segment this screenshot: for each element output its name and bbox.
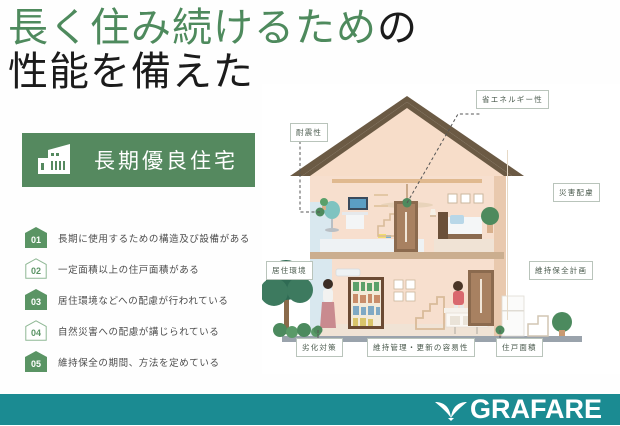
callout-living-environment: 居住環境 bbox=[266, 261, 313, 280]
list-item: 01 長期に使用するための構造及び設備がある bbox=[25, 224, 290, 251]
callout-dwelling-area: 住戸面積 bbox=[496, 338, 543, 357]
footer-bar: GRAFARE bbox=[0, 394, 620, 425]
list-item: 03 居住環境などへの配慮が行われている bbox=[25, 286, 290, 313]
list-item-text: 長期に使用するための構造及び設備がある bbox=[58, 231, 250, 245]
list-item-badge-01: 01 bbox=[25, 227, 47, 248]
list-item-text: 自然災害への配慮が講じられている bbox=[58, 324, 219, 338]
brand-logo: GRAFARE bbox=[434, 396, 602, 423]
list-item-text: 居住環境などへの配慮が行われている bbox=[58, 293, 228, 307]
certification-banner: 長期優良住宅 bbox=[22, 133, 255, 187]
callout-disaster-consideration: 災害配慮 bbox=[553, 183, 600, 202]
list-item-badge-03: 03 bbox=[25, 289, 47, 310]
right-guide-line bbox=[507, 150, 508, 320]
list-item-text: 一定面積以上の住戸面積がある bbox=[58, 262, 199, 276]
list-item-badge-02: 02 bbox=[25, 258, 47, 279]
brand-name: GRAFARE bbox=[470, 396, 602, 423]
house-building-icon bbox=[34, 140, 84, 180]
headline-line-1-black: の bbox=[377, 5, 418, 50]
callout-deterioration-measures: 劣化対策 bbox=[296, 338, 343, 357]
leaf-wing-logo-icon bbox=[434, 399, 468, 421]
list-item: 05 維持保全の期間、方法を定めている bbox=[25, 348, 290, 375]
list-item-number: 04 bbox=[31, 328, 41, 338]
list-item-number: 03 bbox=[31, 297, 41, 307]
list-item-number: 02 bbox=[31, 266, 41, 276]
poster-root: 長く住み続けるための 性能を備えた 長期優良住宅 01 bbox=[0, 0, 620, 425]
banner-label: 長期優良住宅 bbox=[94, 145, 238, 175]
headline-line-1: 長く住み続けるための bbox=[8, 8, 448, 48]
list-item-number: 01 bbox=[31, 235, 41, 245]
callout-energy-efficiency: 省エネルギー性 bbox=[476, 90, 549, 109]
list-item: 04 自然災害への配慮が講じられている bbox=[25, 317, 290, 344]
headline-block: 長く住み続けるための 性能を備えた bbox=[8, 8, 448, 92]
list-item: 02 一定面積以上の住戸面積がある bbox=[25, 255, 290, 282]
list-item-badge-04: 04 bbox=[25, 320, 47, 341]
callout-maintenance-plan: 維持保全計画 bbox=[529, 261, 593, 280]
callout-earthquake-resistance: 耐震性 bbox=[290, 123, 328, 142]
callout-maintenance-ease: 維持管理・更新の容易性 bbox=[367, 338, 475, 357]
requirements-list: 01 長期に使用するための構造及び設備がある 02 一定面積以上の住戸面積がある… bbox=[25, 224, 290, 379]
list-item-text: 維持保全の期間、方法を定めている bbox=[58, 355, 220, 369]
list-item-number: 05 bbox=[31, 359, 41, 369]
headline-line-1-green: 長く住み続けるため bbox=[8, 5, 377, 50]
list-item-badge-05: 05 bbox=[25, 351, 47, 372]
